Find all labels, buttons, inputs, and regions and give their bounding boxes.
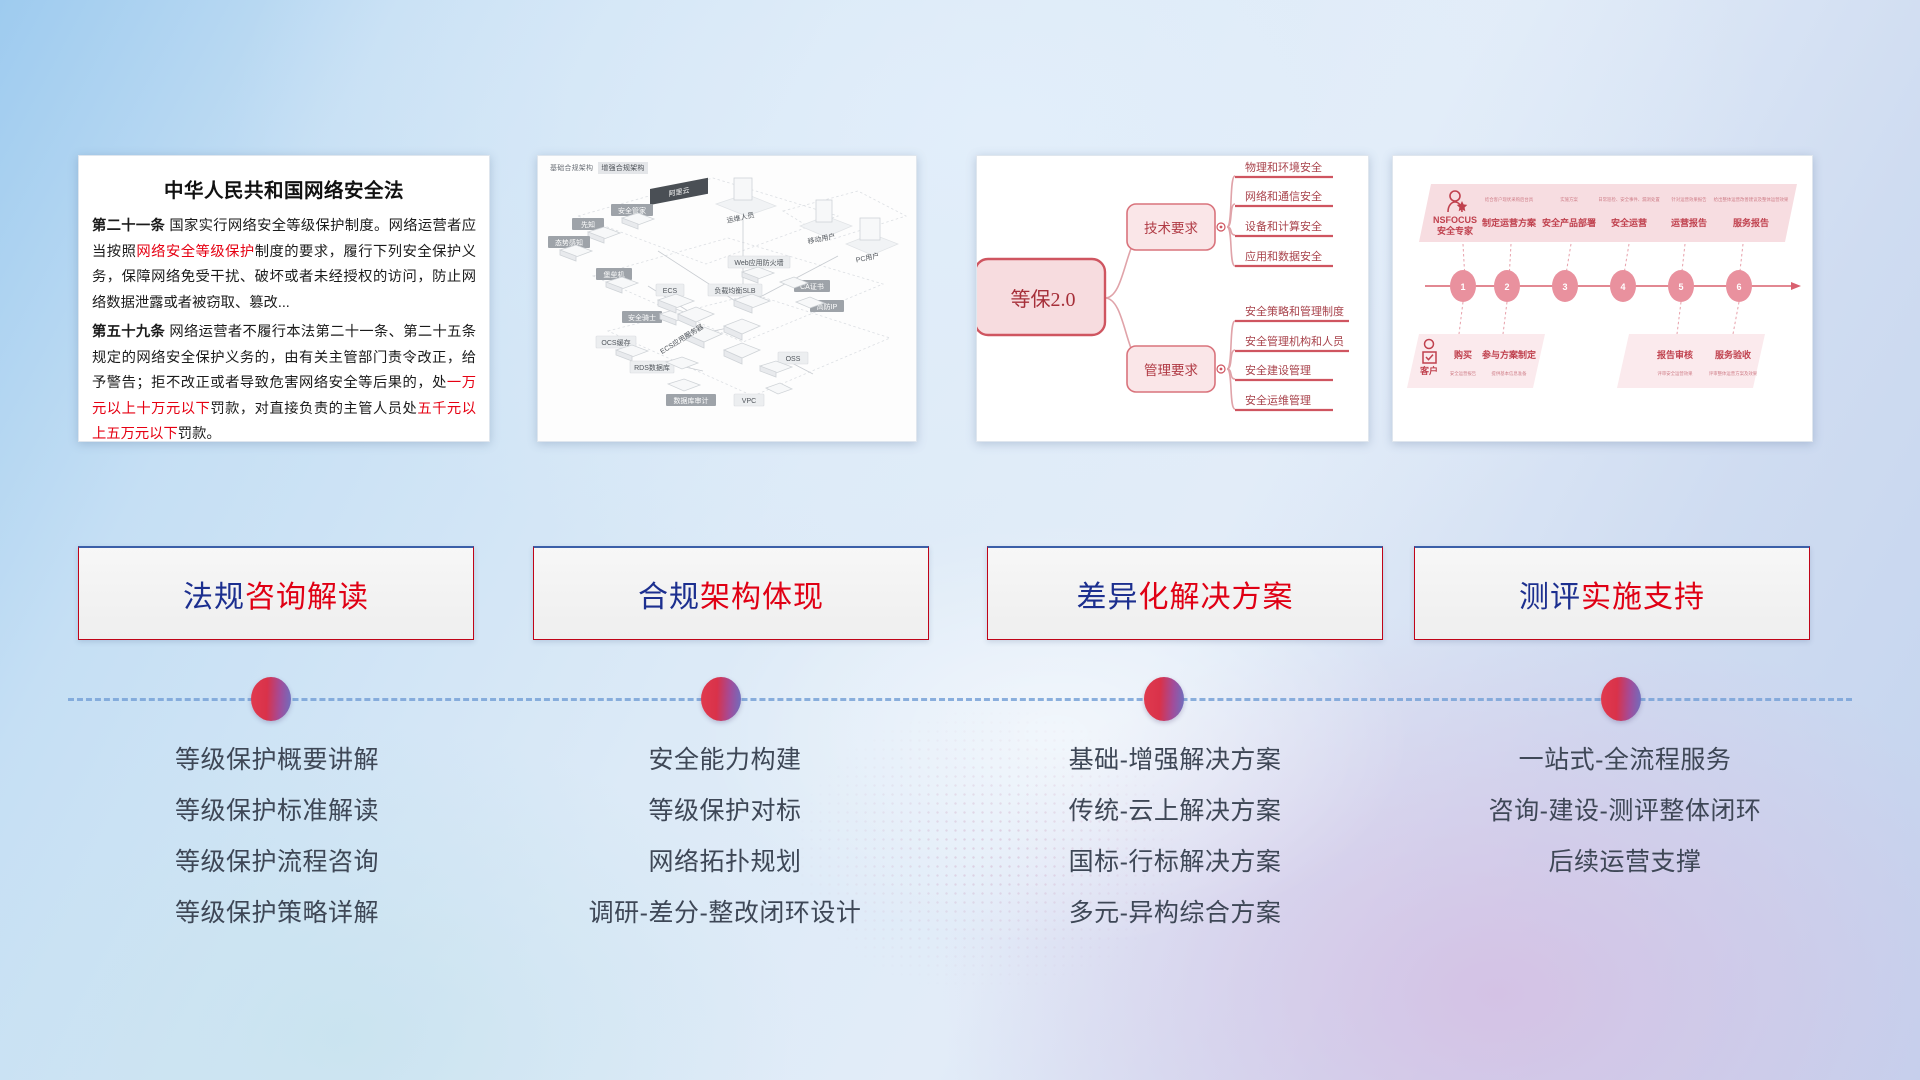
timeline-dot-4 bbox=[1601, 677, 1641, 721]
law-text-card: 中华人民共和国网络安全法 第二十一条 国家实行网络安全等级保护制度。网络运营者应… bbox=[78, 155, 490, 442]
svg-text:评审安全运营效果: 评审安全运营效果 bbox=[1657, 370, 1693, 377]
svg-text:评审整体运营方案及效果: 评审整体运营方案及效果 bbox=[1709, 370, 1758, 377]
header-label-blue: 合规 bbox=[638, 581, 700, 614]
node-slb: 负载均衡SLB bbox=[708, 284, 770, 313]
detail-column-3: 基础-增强解决方案 传统-云上解决方案 国标-行标解决方案 多元-异构综合方案 bbox=[960, 735, 1390, 939]
svg-text:安全运营报告: 安全运营报告 bbox=[1450, 370, 1477, 377]
list-item: 等级保护策略详解 bbox=[62, 888, 492, 939]
list-item: 咨询-建设-测评整体闭环 bbox=[1400, 786, 1850, 837]
svg-text:安全产品部署: 安全产品部署 bbox=[1542, 217, 1596, 228]
svg-text:应用和数据安全: 应用和数据安全 bbox=[1245, 249, 1322, 263]
article-number-21: 第二十一条 bbox=[92, 218, 165, 234]
list-item: 网络拓扑规划 bbox=[510, 837, 940, 888]
svg-text:先知: 先知 bbox=[581, 220, 595, 229]
svg-text:购买: 购买 bbox=[1454, 349, 1472, 360]
svg-text:给出整体运营改善建议及整体运营效果: 给出整体运营改善建议及整体运营效果 bbox=[1714, 196, 1789, 203]
expert-band bbox=[1419, 184, 1797, 242]
svg-text:RDS数据库: RDS数据库 bbox=[634, 363, 670, 372]
law-body: 中华人民共和国网络安全法 第二十一条 国家实行网络安全等级保护制度。网络运营者应… bbox=[79, 156, 489, 441]
svg-text:安全运维管理: 安全运维管理 bbox=[1245, 393, 1311, 407]
mindmap-svg: 等保2.0 技术要求 物理和环境安全 bbox=[977, 156, 1368, 441]
timeline-dot-1 bbox=[251, 677, 291, 721]
mindmap-branch-technical: 技术要求 bbox=[1127, 204, 1225, 250]
cloud-architecture-card: 基础合规架构 增强合规架构 bbox=[537, 155, 917, 442]
svg-text:数据库审计: 数据库审计 bbox=[674, 396, 709, 405]
header-label: 合规架构体现 bbox=[638, 572, 824, 616]
header-box-regulation-consulting[interactable]: 法规咨询解读 bbox=[78, 546, 474, 640]
header-label-red: 架构体现 bbox=[700, 581, 824, 614]
node-waf: Web应用防火墙 bbox=[728, 256, 790, 283]
svg-text:6: 6 bbox=[1736, 282, 1741, 292]
svg-text:安全管理机构和人员: 安全管理机构和人员 bbox=[1245, 334, 1344, 348]
header-box-row: 法规咨询解读 合规架构体现 差异化解决方案 测评实施支持 bbox=[0, 546, 1920, 644]
svg-text:安全策略和管理制度: 安全策略和管理制度 bbox=[1245, 304, 1344, 318]
detail-list-row: 等级保护概要讲解 等级保护标准解读 等级保护流程咨询 等级保护策略详解 安全能力… bbox=[0, 735, 1920, 965]
mindmap-leaf: 物理和环境安全 bbox=[1235, 160, 1333, 177]
architecture-svg: 阿里云 安全管家 先知 bbox=[538, 156, 916, 441]
mindmap-root-label: 等保2.0 bbox=[1011, 288, 1076, 311]
expert-role-line1: NSFOCUS bbox=[1433, 215, 1477, 225]
list-item: 等级保护对标 bbox=[510, 786, 940, 837]
svg-text:OCS缓存: OCS缓存 bbox=[601, 338, 630, 347]
svg-text:OSS: OSS bbox=[786, 356, 801, 363]
mindmap-branch-label: 技术要求 bbox=[1144, 221, 1198, 236]
header-label-red: 咨询解读 bbox=[245, 581, 369, 614]
header-label: 法规咨询解读 bbox=[183, 572, 369, 616]
timeline-step-marker: 5 bbox=[1668, 270, 1694, 302]
svg-text:4: 4 bbox=[1620, 282, 1625, 292]
detail-column-1: 等级保护概要讲解 等级保护标准解读 等级保护流程咨询 等级保护策略详解 bbox=[62, 735, 492, 939]
svg-text:报告审核: 报告审核 bbox=[1657, 349, 1693, 360]
law-run-highlight: 网络安全等级保护 bbox=[136, 244, 254, 260]
svg-text:安全骑士: 安全骑士 bbox=[628, 313, 656, 322]
svg-text:制定运营方案: 制定运营方案 bbox=[1482, 217, 1537, 228]
svg-text:运营报告: 运营报告 bbox=[1671, 217, 1707, 228]
svg-text:日常巡检、安全事件、漏洞处置: 日常巡检、安全事件、漏洞处置 bbox=[1598, 196, 1660, 203]
svg-text:安全运营: 安全运营 bbox=[1611, 217, 1647, 228]
service-timeline-svg: NSFOCUS 安全专家 结合客户现状采购后台具 制定运营方案 实施方案 安全产… bbox=[1393, 156, 1812, 441]
mindmap-branch-management: 管理要求 bbox=[1127, 346, 1225, 392]
timeline-connector bbox=[0, 660, 1920, 740]
mindmap-leaf: 设备和计算安全 bbox=[1235, 219, 1333, 236]
timeline-dot-3 bbox=[1144, 677, 1184, 721]
node-pc-user: PC用户 bbox=[846, 218, 898, 264]
svg-text:实施方案: 实施方案 bbox=[1560, 196, 1578, 203]
mindmap-leaf: 应用和数据安全 bbox=[1235, 249, 1333, 266]
list-item: 等级保护流程咨询 bbox=[62, 837, 492, 888]
list-item: 基础-增强解决方案 bbox=[960, 735, 1390, 786]
header-label-blue: 法规 bbox=[183, 581, 245, 614]
list-item: 后续运营支撑 bbox=[1400, 837, 1850, 888]
customer-role-label: 客户 bbox=[1419, 365, 1438, 376]
list-item: 等级保护概要讲解 bbox=[62, 735, 492, 786]
header-box-assessment-support[interactable]: 测评实施支持 bbox=[1414, 546, 1810, 640]
node-ca-certificate: CA证书 bbox=[780, 277, 830, 292]
timeline-arrow-icon bbox=[1791, 282, 1801, 290]
header-label: 测评实施支持 bbox=[1519, 572, 1705, 616]
law-run: 罚款，对直接负责的主管人员处 bbox=[210, 401, 417, 417]
timeline-step-marker: 6 bbox=[1726, 270, 1752, 302]
svg-text:参与方案制定: 参与方案制定 bbox=[1482, 349, 1537, 360]
node-ecs: ECS bbox=[656, 284, 694, 313]
node-oss: OSS bbox=[760, 352, 808, 377]
node-ocs-cache: OCS缓存 bbox=[596, 336, 648, 361]
svg-text:针对运营效果报告: 针对运营效果报告 bbox=[1671, 196, 1707, 203]
law-run: 罚款。 bbox=[178, 426, 221, 442]
node-mobile-user: 移动用户 bbox=[800, 200, 852, 246]
timeline-dashed-line bbox=[68, 698, 1852, 701]
detail-column-2: 安全能力构建 等级保护对标 网络拓扑规划 调研-差分-整改闭环设计 bbox=[510, 735, 940, 939]
header-box-compliance-architecture[interactable]: 合规架构体现 bbox=[533, 546, 929, 640]
timeline-step-marker: 1 bbox=[1450, 270, 1476, 302]
slide-stage: 中华人民共和国网络安全法 第二十一条 国家实行网络安全等级保护制度。网络运营者应… bbox=[0, 0, 1920, 1080]
mindmap-leaf: 安全建设管理 bbox=[1235, 363, 1333, 380]
list-item: 国标-行标解决方案 bbox=[960, 837, 1390, 888]
node-situational-awareness: 态势感知 bbox=[548, 236, 592, 261]
svg-text:Web应用防火墙: Web应用防火墙 bbox=[734, 258, 783, 267]
svg-text:网络和通信安全: 网络和通信安全 bbox=[1245, 189, 1322, 203]
svg-text:设备和计算安全: 设备和计算安全 bbox=[1245, 219, 1322, 233]
mindmap: 等保2.0 技术要求 物理和环境安全 bbox=[977, 156, 1368, 441]
customer-band-left bbox=[1407, 334, 1545, 388]
svg-text:负载均衡SLB: 负载均衡SLB bbox=[714, 286, 756, 295]
law-title: 中华人民共和国网络安全法 bbox=[92, 174, 476, 203]
service-timeline: NSFOCUS 安全专家 结合客户现状采购后台具 制定运营方案 实施方案 安全产… bbox=[1393, 156, 1812, 441]
list-item: 调研-差分-整改闭环设计 bbox=[510, 888, 940, 939]
svg-text:5: 5 bbox=[1678, 282, 1683, 292]
header-label-red: 化解决方案 bbox=[1139, 581, 1294, 614]
node-database-audit: 数据库审计 bbox=[666, 379, 716, 406]
svg-text:VPC: VPC bbox=[742, 398, 756, 405]
service-timeline-card: NSFOCUS 安全专家 结合客户现状采购后台具 制定运营方案 实施方案 安全产… bbox=[1392, 155, 1813, 442]
list-item: 安全能力构建 bbox=[510, 735, 940, 786]
list-item: 等级保护标准解读 bbox=[62, 786, 492, 837]
cloud-vendor-chip: 阿里云 bbox=[650, 178, 708, 205]
svg-text:安全建设管理: 安全建设管理 bbox=[1245, 363, 1311, 377]
timeline-step-marker: 3 bbox=[1552, 270, 1578, 302]
header-label-blue: 差异 bbox=[1077, 581, 1139, 614]
image-card-row: 中华人民共和国网络安全法 第二十一条 国家实行网络安全等级保护制度。网络运营者应… bbox=[0, 0, 1920, 460]
node-vpc: VPC bbox=[734, 383, 792, 406]
list-item: 一站式-全流程服务 bbox=[1400, 735, 1850, 786]
article-number-59: 第五十九条 bbox=[92, 324, 165, 340]
svg-text:安全管家: 安全管家 bbox=[618, 206, 646, 215]
svg-text:物理和环境安全: 物理和环境安全 bbox=[1245, 160, 1322, 174]
timeline-step-marker: 4 bbox=[1610, 270, 1636, 302]
law-paragraph-59: 第五十九条 网络运营者不履行本法第二十一条、第二十五条规定的网络安全保护义务的，… bbox=[92, 320, 476, 442]
svg-text:3: 3 bbox=[1562, 282, 1567, 292]
svg-text:2: 2 bbox=[1504, 282, 1509, 292]
architecture-diagram: 基础合规架构 增强合规架构 bbox=[538, 156, 916, 441]
mindmap-branch-label: 管理要求 bbox=[1144, 363, 1198, 378]
node-rds-database: RDS数据库 bbox=[630, 357, 698, 373]
customer-band-right bbox=[1617, 334, 1765, 388]
mindmap-leaf: 安全运维管理 bbox=[1235, 393, 1333, 410]
svg-text:提供基本信息准备: 提供基本信息准备 bbox=[1491, 370, 1527, 377]
svg-text:结合客户现状采购后台具: 结合客户现状采购后台具 bbox=[1485, 196, 1534, 203]
header-label-blue: 测评 bbox=[1519, 581, 1581, 614]
mindmap-card: 等保2.0 技术要求 物理和环境安全 bbox=[976, 155, 1369, 442]
list-item: 多元-异构综合方案 bbox=[960, 888, 1390, 939]
list-item: 传统-云上解决方案 bbox=[960, 786, 1390, 837]
timeline-dot-2 bbox=[701, 677, 741, 721]
mindmap-leaf: 安全策略和管理制度 bbox=[1235, 304, 1349, 321]
mindmap-leaf: 安全管理机构和人员 bbox=[1235, 334, 1349, 351]
header-label-red: 实施支持 bbox=[1581, 581, 1705, 614]
header-label: 差异化解决方案 bbox=[1077, 572, 1294, 616]
expert-role-line2: 安全专家 bbox=[1437, 225, 1474, 236]
svg-text:1: 1 bbox=[1460, 282, 1465, 292]
mindmap-leaf: 网络和通信安全 bbox=[1235, 189, 1333, 206]
mindmap-root-node: 等保2.0 bbox=[977, 259, 1105, 335]
law-paragraph-21: 第二十一条 国家实行网络安全等级保护制度。网络运营者应当按照网络安全等级保护制度… bbox=[92, 214, 476, 316]
node-security-steward: 安全管家 bbox=[611, 204, 654, 229]
svg-text:服务验收: 服务验收 bbox=[1715, 349, 1751, 360]
svg-text:服务报告: 服务报告 bbox=[1733, 217, 1769, 228]
timeline-step-marker: 2 bbox=[1494, 270, 1520, 302]
header-box-differentiated-solution[interactable]: 差异化解决方案 bbox=[987, 546, 1383, 640]
node-ops-user: 运维人员 bbox=[716, 178, 776, 225]
detail-column-4: 一站式-全流程服务 咨询-建设-测评整体闭环 后续运营支撑 bbox=[1400, 735, 1850, 888]
